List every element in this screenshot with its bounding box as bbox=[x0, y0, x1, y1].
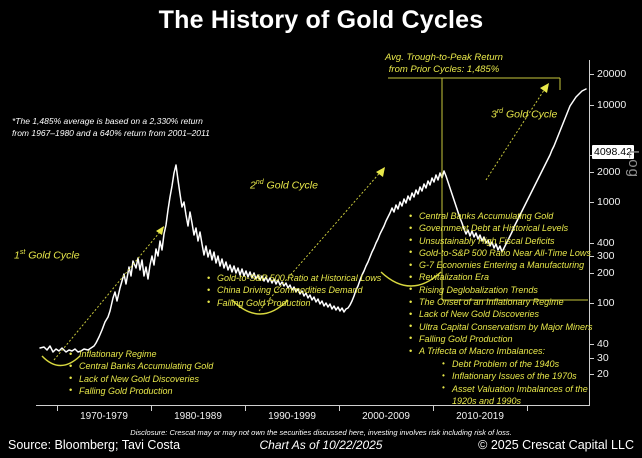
cycle-3-text: Gold Cycle bbox=[503, 109, 557, 121]
y-tick-label-10000: 10000 bbox=[597, 99, 626, 111]
cycle2-arrow-head bbox=[376, 167, 385, 177]
y-tick-30 bbox=[589, 358, 594, 359]
y-tick-20000 bbox=[589, 74, 594, 75]
list-item: Gold-to-S&P 500 Ratio Near All-Time Lows bbox=[408, 247, 593, 259]
cycle-1-label: 1st Gold Cycle bbox=[14, 249, 80, 262]
cycle1-arrow-head bbox=[156, 226, 164, 235]
copyright-text: © 2025 Crescat Capital LLC bbox=[478, 438, 634, 452]
sub-list-item-continuation: 1920s and 1990s bbox=[442, 395, 588, 407]
y-tick-label-30: 30 bbox=[597, 352, 609, 364]
cycle-2-bullet-list: Gold-to-S&P 500 Ratio at Historical Lows… bbox=[206, 272, 381, 309]
cycle-3-label: 3rd Gold Cycle bbox=[491, 108, 557, 121]
disclosure-text: Disclosure: Crescat may or may not own t… bbox=[0, 428, 642, 437]
list-item-continuation: Revitalization Era bbox=[408, 271, 593, 283]
sub-list-item: Inflationary Issues of the 1970s bbox=[442, 370, 588, 382]
cycle3-arrow-line bbox=[486, 84, 548, 180]
avg-return-callout-line-2: from Prior Cycles: 1,485% bbox=[385, 64, 503, 76]
x-tick-label-1990-1999: 1990-1999 bbox=[268, 411, 316, 422]
x-tick-2 bbox=[245, 405, 246, 411]
x-tick-label-2010-2019: 2010-2019 bbox=[456, 411, 504, 422]
list-item: Lack of New Gold Discoveries bbox=[68, 373, 213, 385]
y-tick-label-200: 200 bbox=[597, 267, 615, 279]
sub-list-item: Asset Valuation Imbalances of the bbox=[442, 383, 588, 395]
avg-return-callout: Avg. Trough-to-Peak Return from Prior Cy… bbox=[385, 52, 503, 76]
list-item: Central Banks Accumulating Gold bbox=[408, 210, 593, 222]
list-item: Falling Gold Production bbox=[206, 297, 381, 309]
list-item: A Trifecta of Macro Imbalances: bbox=[408, 345, 593, 357]
cycle-1-bullet-list: Inflationary Regime Central Banks Accumu… bbox=[68, 348, 213, 397]
page-title: The History of Gold Cycles bbox=[0, 6, 642, 35]
list-item: The Onset of an Inflationary Regime bbox=[408, 296, 593, 308]
cycle-2-ordinal: nd bbox=[256, 179, 264, 186]
footnote: *The 1,485% average is based on a 2,330%… bbox=[12, 115, 210, 139]
footnote-line-1: *The 1,485% average is based on a 2,330%… bbox=[12, 115, 210, 127]
list-item: China Driving Commodities Demand bbox=[206, 284, 381, 296]
list-item: Gold-to-S&P 500 Ratio at Historical Lows bbox=[206, 272, 381, 284]
y-tick-2000 bbox=[589, 172, 594, 173]
y-tick-label-20000: 20000 bbox=[597, 68, 626, 80]
y-tick-label-1000: 1000 bbox=[597, 196, 620, 208]
cycle-1-text: Gold Cycle bbox=[25, 250, 79, 262]
y-axis-title: Log bbox=[625, 150, 642, 178]
y-tick-1000 bbox=[589, 202, 594, 203]
y-tick-label-100: 100 bbox=[597, 297, 615, 309]
list-item: Ultra Capital Conservatism by Major Mine… bbox=[408, 321, 593, 333]
y-tick-label-400: 400 bbox=[597, 237, 615, 249]
y-tick-20 bbox=[589, 374, 594, 375]
sub-list-item: Debt Problem of the 1940s bbox=[442, 358, 588, 370]
y-tick-label-300: 300 bbox=[597, 250, 615, 262]
list-item: Government Debt at Historical Levels bbox=[408, 222, 593, 234]
avg-return-callout-line-1: Avg. Trough-to-Peak Return bbox=[385, 52, 503, 64]
footnote-line-2: from 1967–1980 and a 640% return from 20… bbox=[12, 127, 210, 139]
x-tick-3 bbox=[339, 405, 340, 411]
cycle-3-sub-bullet-list: Debt Problem of the 1940s Inflationary I… bbox=[442, 358, 588, 407]
y-tick-label-2000: 2000 bbox=[597, 166, 620, 178]
list-item: Central Banks Accumulating Gold bbox=[68, 360, 213, 372]
y-tick-label-20: 20 bbox=[597, 368, 609, 380]
cycle-2-label: 2nd Gold Cycle bbox=[250, 179, 318, 192]
list-item: Falling Gold Production bbox=[408, 333, 593, 345]
x-tick-0 bbox=[57, 405, 58, 411]
list-item: Falling Gold Production bbox=[68, 385, 213, 397]
list-item: Inflationary Regime bbox=[68, 348, 213, 360]
x-tick-4 bbox=[433, 405, 434, 411]
cycle1-arrow-line bbox=[54, 227, 164, 360]
y-tick-10000 bbox=[589, 105, 594, 106]
x-tick-label-1980-1989: 1980-1989 bbox=[174, 411, 222, 422]
x-tick-1 bbox=[151, 405, 152, 411]
x-tick-label-2000-2009: 2000-2009 bbox=[362, 411, 410, 422]
y-tick-label-40: 40 bbox=[597, 338, 609, 350]
cycle-2-text: Gold Cycle bbox=[264, 180, 318, 192]
list-item: G-7 Economies Entering a Manufacturing bbox=[408, 259, 593, 271]
list-item: Unsustainably High Fiscal Deficits bbox=[408, 235, 593, 247]
cycle-3-bullet-list: Central Banks Accumulating Gold Governme… bbox=[408, 210, 593, 358]
list-item: Rising Deglobalization Trends bbox=[408, 284, 593, 296]
list-item: Lack of New Gold Discoveries bbox=[408, 308, 593, 320]
x-tick-label-1970-1979: 1970-1979 bbox=[80, 411, 128, 422]
cycle3-arrow-head bbox=[540, 83, 549, 93]
